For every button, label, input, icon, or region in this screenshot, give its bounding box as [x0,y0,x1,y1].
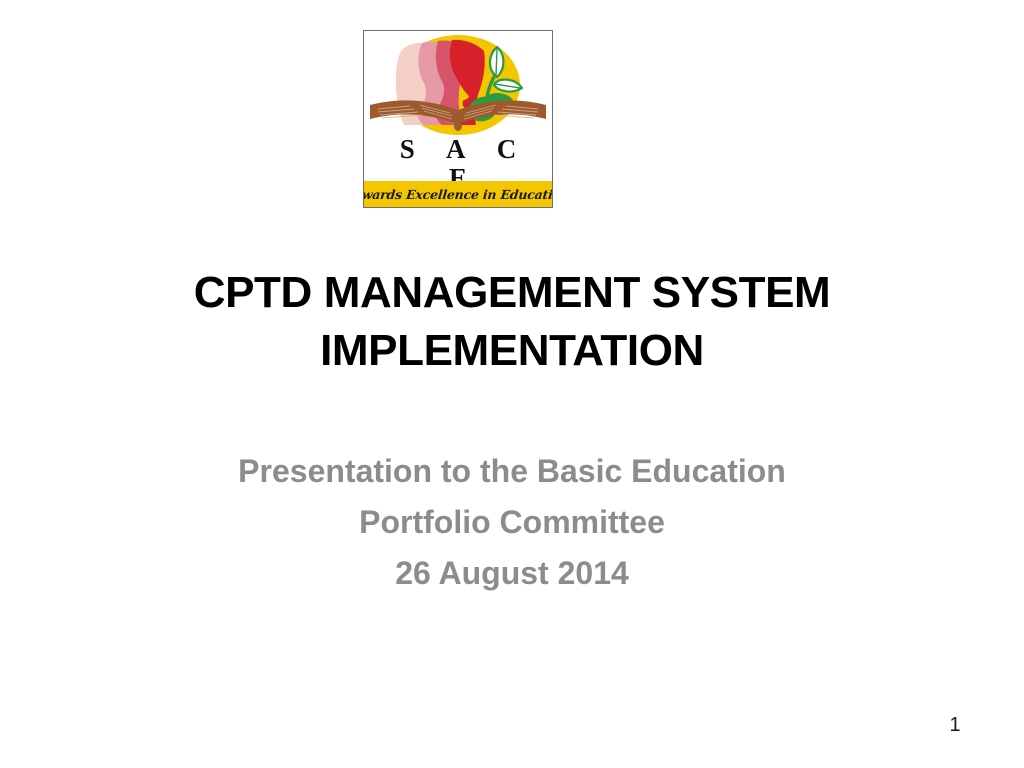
page-title: CPTD MANAGEMENT SYSTEM IMPLEMENTATION [140,264,884,380]
sace-tagline-band: Towards Excellence in Education [364,181,552,207]
sace-wordmark: S A C E South African Council for Educat… [364,135,552,175]
sace-logo: S A C E South African Council for Educat… [363,30,553,208]
leaf-upright-vein [496,49,497,76]
page-title-line-1: CPTD MANAGEMENT SYSTEM [140,264,884,322]
sace-tagline-text: Towards Excellence in Education [363,187,553,202]
page-subtitle-line-2: Portfolio Committee [140,497,884,548]
slide-number: 1 [920,714,990,737]
book-spine-knot [454,121,462,131]
page-title-line-2: IMPLEMENTATION [140,322,884,380]
presentation-slide: S A C E South African Council for Educat… [0,0,1024,768]
sace-emblem-icon [364,33,552,137]
page-subtitle-line-3: 26 August 2014 [140,548,884,599]
page-subtitle-line-1: Presentation to the Basic Education [140,446,884,497]
page-subtitle: Presentation to the Basic Education Port… [140,446,884,599]
